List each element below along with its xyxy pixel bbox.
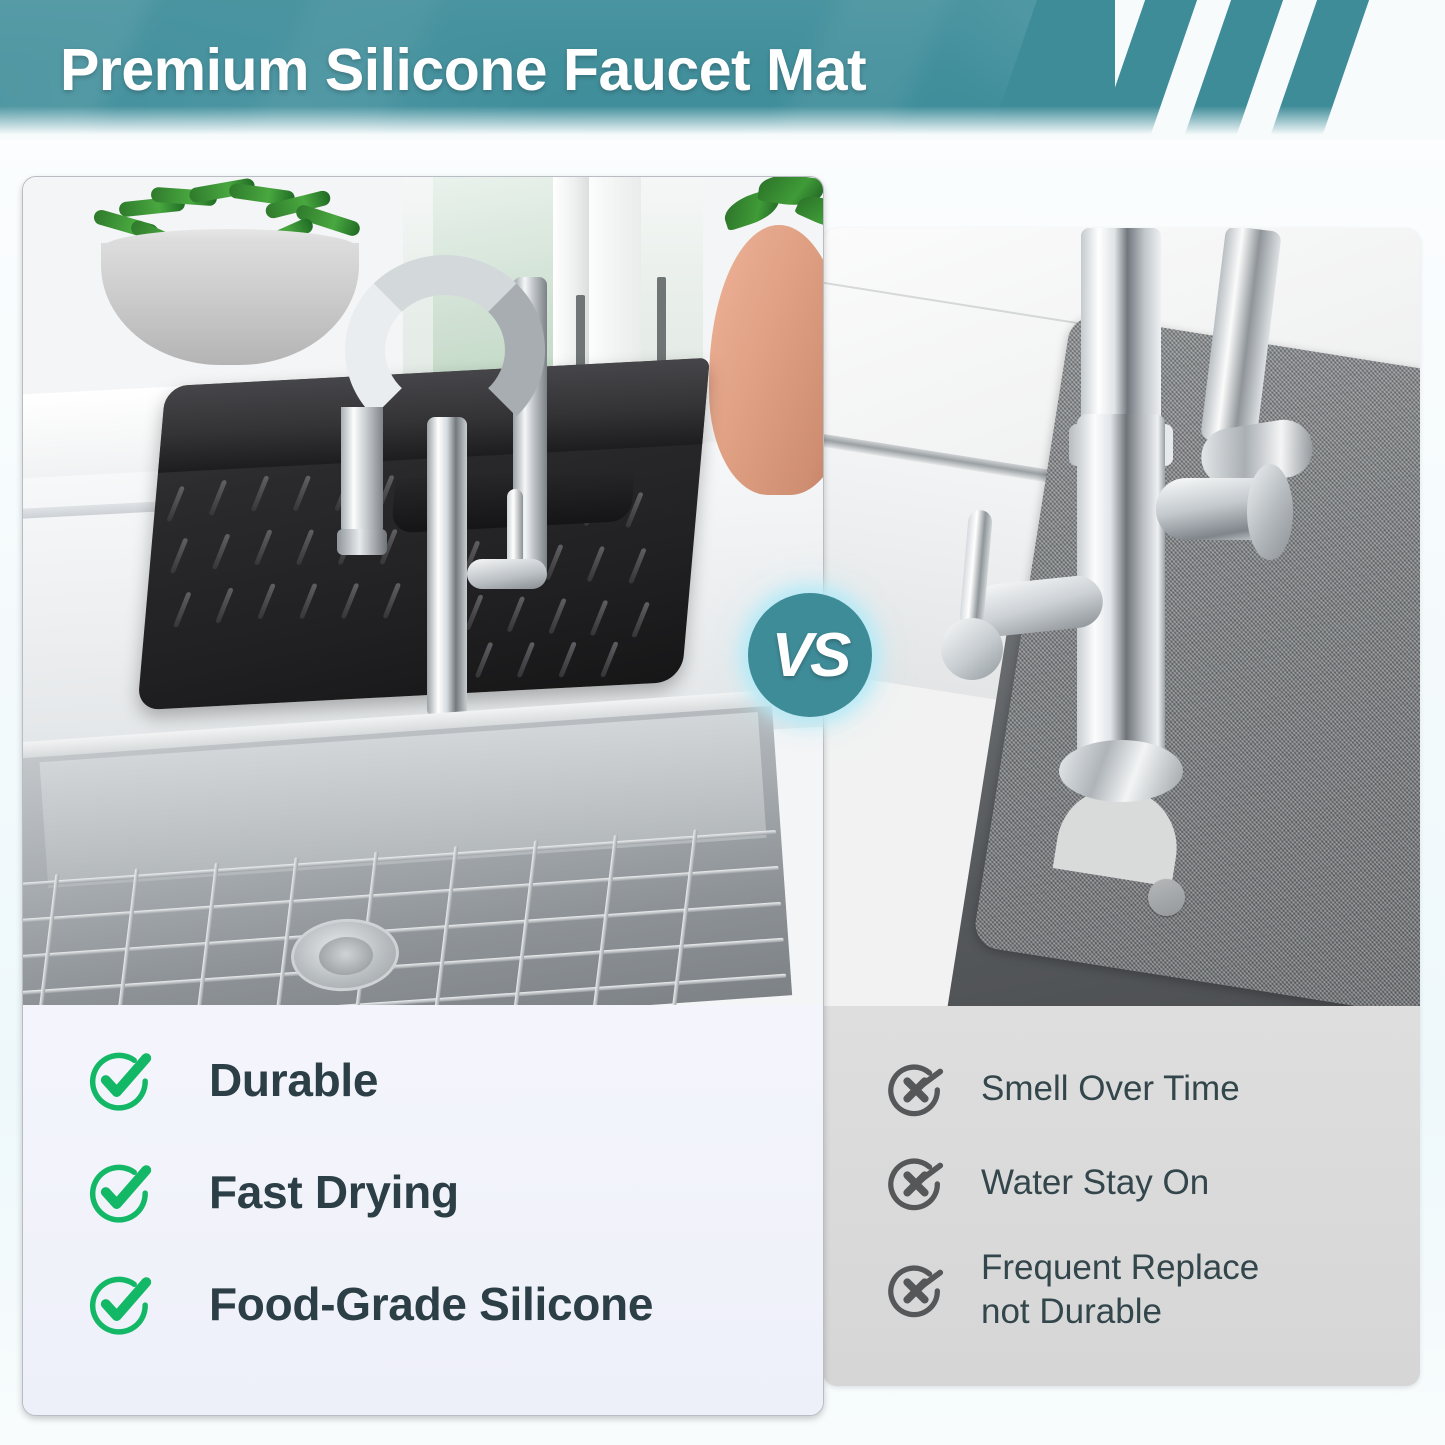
faucet-spout-tip xyxy=(337,529,387,555)
x-circle-icon xyxy=(885,1259,947,1321)
list-item-label: Durable xyxy=(209,1053,378,1107)
vs-badge: VS xyxy=(748,593,872,717)
faucet-spout xyxy=(341,407,383,537)
pros-list: Durable Fast Drying Food-Grade Silicone xyxy=(23,1005,823,1416)
faucet-column xyxy=(427,417,467,717)
check-circle-icon xyxy=(85,1045,155,1115)
vs-label: VS xyxy=(772,620,849,691)
list-item: Water Stay On xyxy=(823,1152,1420,1214)
faucet-upper-column xyxy=(1081,228,1161,428)
concrete-planter xyxy=(101,243,359,365)
x-circle-icon xyxy=(885,1058,947,1120)
list-item-label-line1: Frequent Replace xyxy=(981,1248,1259,1287)
comparison-panel-cons: Smell Over Time Water Stay On xyxy=(823,228,1420,1386)
check-circle-icon xyxy=(85,1157,155,1227)
faucet-base-ring xyxy=(1059,740,1183,802)
check-circle-icon xyxy=(85,1269,155,1339)
page-title: Premium Silicone Faucet Mat xyxy=(60,36,866,104)
header-banner: Premium Silicone Faucet Mat xyxy=(0,0,1445,140)
list-item: Durable xyxy=(23,1045,823,1115)
list-item: Smell Over Time xyxy=(823,1058,1420,1120)
list-item: Fast Drying xyxy=(23,1157,823,1227)
product-photo-competitor xyxy=(823,228,1420,1006)
product-photo-silicone-mat xyxy=(23,177,823,1005)
cons-list: Smell Over Time Water Stay On xyxy=(823,1006,1420,1386)
terracotta-vase xyxy=(709,225,823,495)
faucet-handle-disc xyxy=(1247,464,1293,560)
list-item-label: Smell Over Time xyxy=(981,1067,1240,1111)
list-item: Food-Grade Silicone xyxy=(23,1269,823,1339)
faucet-lever-arm xyxy=(467,559,547,589)
list-item-label-line2: not Durable xyxy=(981,1292,1162,1331)
list-item-label: Frequent Replace not Durable xyxy=(981,1246,1259,1334)
list-item-label: Water Stay On xyxy=(981,1161,1209,1205)
header-bottom-fade xyxy=(0,106,1445,140)
x-circle-icon xyxy=(885,1152,947,1214)
list-item-label: Fast Drying xyxy=(209,1165,459,1219)
list-item: Frequent Replace not Durable xyxy=(823,1246,1420,1334)
faucet-lever-cap xyxy=(941,618,1003,680)
comparison-panel-pros: Durable Fast Drying Food-Grade Silicone xyxy=(22,176,824,1416)
list-item-label: Food-Grade Silicone xyxy=(209,1277,653,1331)
